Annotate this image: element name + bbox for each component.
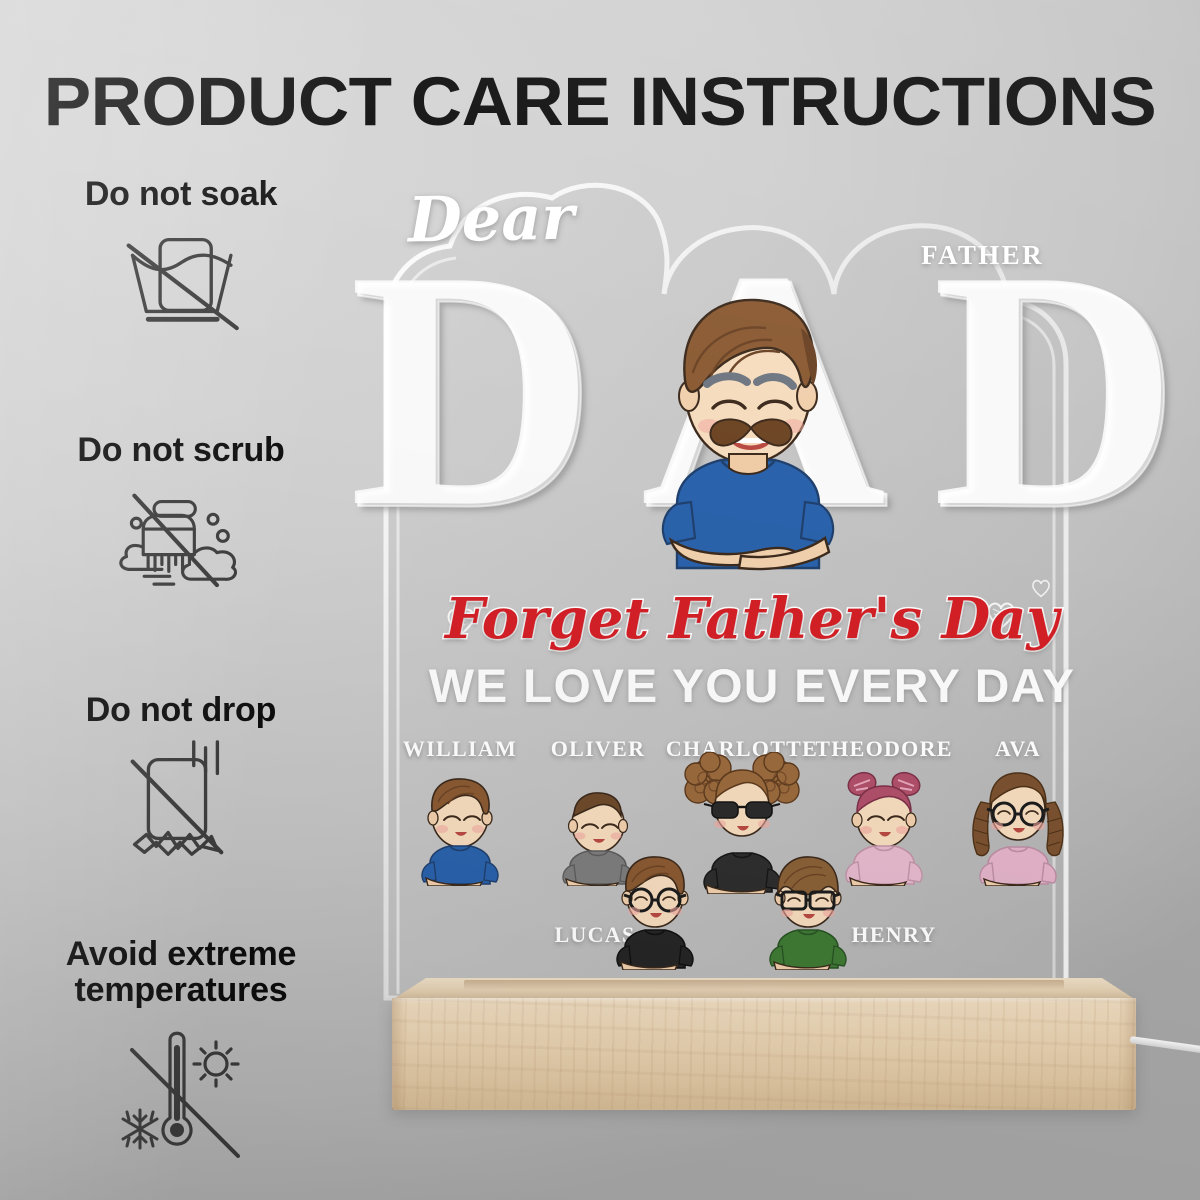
child-name-oliver: OLIVER (551, 736, 646, 762)
page-title: PRODUCT CARE INSTRUCTIONS (0, 62, 1200, 141)
child-name-henry: HENRY (851, 922, 936, 948)
acrylic-plaque: DAD Dear FATHER Forget Father's Day WE L… (352, 168, 1152, 1008)
no-soak-icon (107, 218, 255, 336)
care-item-do-not-drop: Do not drop (16, 692, 346, 872)
avatar-lucas (603, 844, 707, 970)
avatar-dad (633, 268, 863, 578)
no-scrub-icon (97, 474, 264, 592)
care-item-avoid-extreme-temperatures: Avoid extreme temperatures (16, 936, 346, 1164)
dear-script-text: Dear (407, 181, 574, 257)
power-cable (1130, 1036, 1200, 1053)
wood-base-slot (464, 980, 1064, 989)
care-instructions-list: Do not soak Do not scrub (16, 176, 346, 1170)
avatar-ava (965, 762, 1071, 886)
white-caps-line: WE LOVE YOU EVERY DAY (344, 658, 1160, 713)
no-extreme-temperature-icon (96, 1014, 266, 1164)
no-drop-icon (107, 734, 255, 872)
red-script-line: Forget Father's Day (352, 586, 1152, 652)
wood-base-front (392, 998, 1136, 1110)
product-care-infographic: PRODUCT CARE INSTRUCTIONS Do not soak Do… (0, 0, 1200, 1200)
child-name-theodore: THEODORE (815, 736, 953, 762)
child-name-william: WILLIAM (403, 736, 517, 762)
wood-base-left-edge (392, 998, 406, 1110)
wood-led-base (392, 978, 1136, 1110)
wood-base-right-edge (1120, 998, 1136, 1110)
avatar-william (412, 768, 508, 886)
care-label-do-not-soak: Do not soak (16, 176, 346, 212)
child-name-ava: AVA (995, 736, 1041, 762)
care-label-do-not-drop: Do not drop (16, 692, 346, 728)
care-label-avoid-extreme-temperatures-line2: temperatures (16, 972, 346, 1008)
care-label-do-not-scrub: Do not scrub (16, 432, 346, 468)
care-item-do-not-scrub: Do not scrub (16, 432, 346, 592)
father-label: FATHER (921, 240, 1044, 271)
care-label-avoid-extreme-temperatures-line1: Avoid extreme (16, 936, 346, 972)
care-item-do-not-soak: Do not soak (16, 176, 346, 336)
avatar-henry (756, 844, 860, 970)
